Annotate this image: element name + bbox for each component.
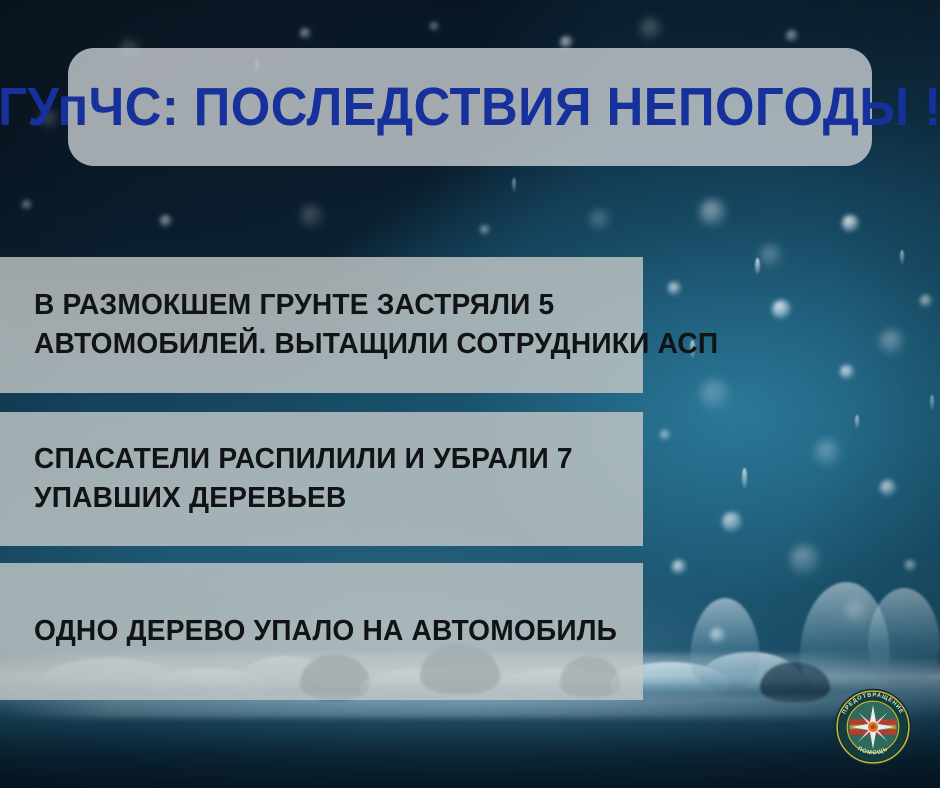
- page-title: ГУпЧС: ПОСЛЕДСТВИЯ НЕПОГОДЫ !: [0, 80, 940, 134]
- info-panel-1-line-1: В РАЗМОКШЕМ ГРУНТЕ ЗАСТРЯЛИ 5: [34, 286, 607, 325]
- info-panel-3: ОДНО ДЕРЕВО УПАЛО НА АВТОМОБИЛЬ: [0, 563, 643, 700]
- info-panel-1-line-2: АВТОМОБИЛЕЙ. ВЫТАЩИЛИ СОТРУДНИКИ АСП: [34, 325, 607, 364]
- info-panel-2-line-1: СПАСАТЕЛИ РАСПИЛИЛИ И УБРАЛИ 7: [34, 440, 607, 479]
- info-panel-2: СПАСАТЕЛИ РАСПИЛИЛИ И УБРАЛИ 7 УПАВШИХ Д…: [0, 412, 643, 546]
- emercom-emblem: ПРЕДОТВРАЩЕНИЕ ПОМОЩЬ: [834, 688, 912, 766]
- info-panel-1: В РАЗМОКШЕМ ГРУНТЕ ЗАСТРЯЛИ 5 АВТОМОБИЛЕ…: [0, 257, 643, 393]
- info-panel-2-line-2: УПАВШИХ ДЕРЕВЬЕВ: [34, 479, 607, 518]
- info-panel-3-line-1: ОДНО ДЕРЕВО УПАЛО НА АВТОМОБИЛЬ: [34, 612, 607, 651]
- weather-consequences-poster: ГУпЧС: ПОСЛЕДСТВИЯ НЕПОГОДЫ ! В РАЗМОКШЕ…: [0, 0, 940, 788]
- title-plate: ГУпЧС: ПОСЛЕДСТВИЯ НЕПОГОДЫ !: [68, 48, 872, 166]
